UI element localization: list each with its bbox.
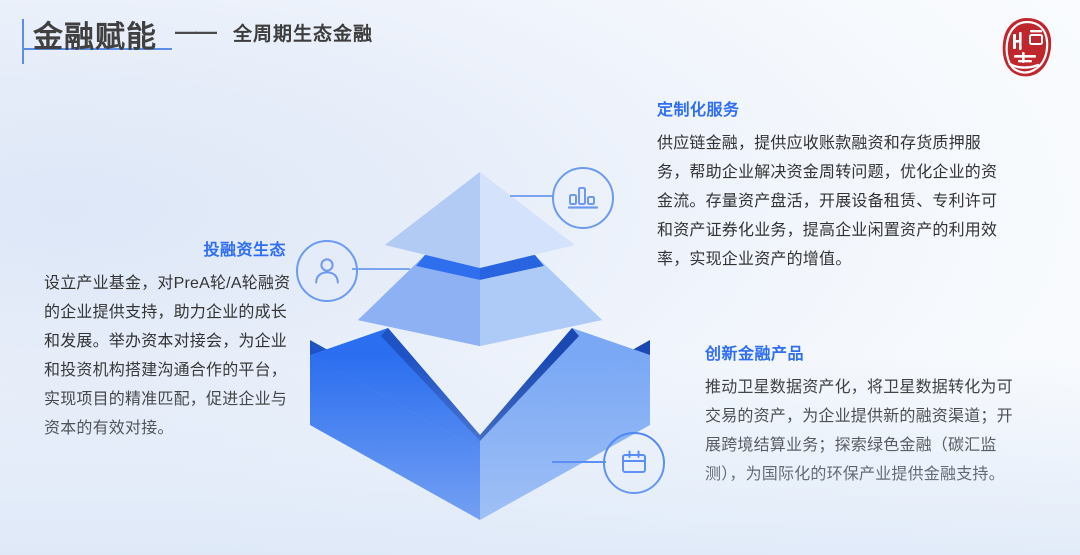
- block-heading-bottom-right: 创新金融产品: [705, 340, 1023, 364]
- company-seal-logo: [1000, 16, 1054, 78]
- block-heading-left: 投融资生态: [44, 236, 294, 260]
- title-dash: ——: [175, 19, 215, 45]
- page-subtitle: 全周期生态金融: [233, 19, 373, 46]
- text-block-innovative-products: 创新金融产品 推动卫星数据资产化，将卫星数据转化为可交易的资产，为企业提供新的融…: [705, 340, 1023, 489]
- slide-header: 金融赋能 —— 全周期生态金融: [0, 0, 1080, 90]
- text-block-customized-service: 定制化服务 供应链金融，提供应收账款融资和存货质押服务，帮助企业解决资金周转问题…: [657, 96, 1005, 274]
- connector-line-left: [352, 268, 410, 270]
- calendar-icon: [619, 448, 649, 478]
- user-node[interactable]: [296, 240, 358, 302]
- connector-line-top: [510, 195, 554, 197]
- block-body-left: 设立产业基金，对PreA轮/A轮融资的企业提供支持，助力企业的成长和发展。举办资…: [44, 269, 294, 443]
- bar-chart-icon: [568, 185, 598, 211]
- calendar-node[interactable]: [603, 432, 665, 494]
- title-accent-vertical-bar: [22, 19, 24, 64]
- block-body-top-right: 供应链金融，提供应收账款融资和存货质押服务，帮助企业解决资金周转问题，优化企业的…: [657, 129, 1005, 274]
- block-body-bottom-right: 推动卫星数据资产化，将卫星数据转化为可交易的资产，为企业提供新的融资渠道；开展跨…: [705, 373, 1023, 489]
- slide-canvas: 金融赋能 —— 全周期生态金融: [0, 0, 1080, 555]
- page-title: 金融赋能: [33, 12, 157, 56]
- bar-chart-node[interactable]: [552, 167, 614, 229]
- user-icon: [312, 256, 342, 286]
- connector-line-bottom: [552, 461, 606, 463]
- top-tier-left-panel: [385, 172, 480, 268]
- block-heading-top-right: 定制化服务: [657, 96, 1005, 120]
- text-block-investment-ecosystem: 投融资生态 设立产业基金，对PreA轮/A轮融资的企业提供支持，助力企业的成长和…: [44, 236, 294, 443]
